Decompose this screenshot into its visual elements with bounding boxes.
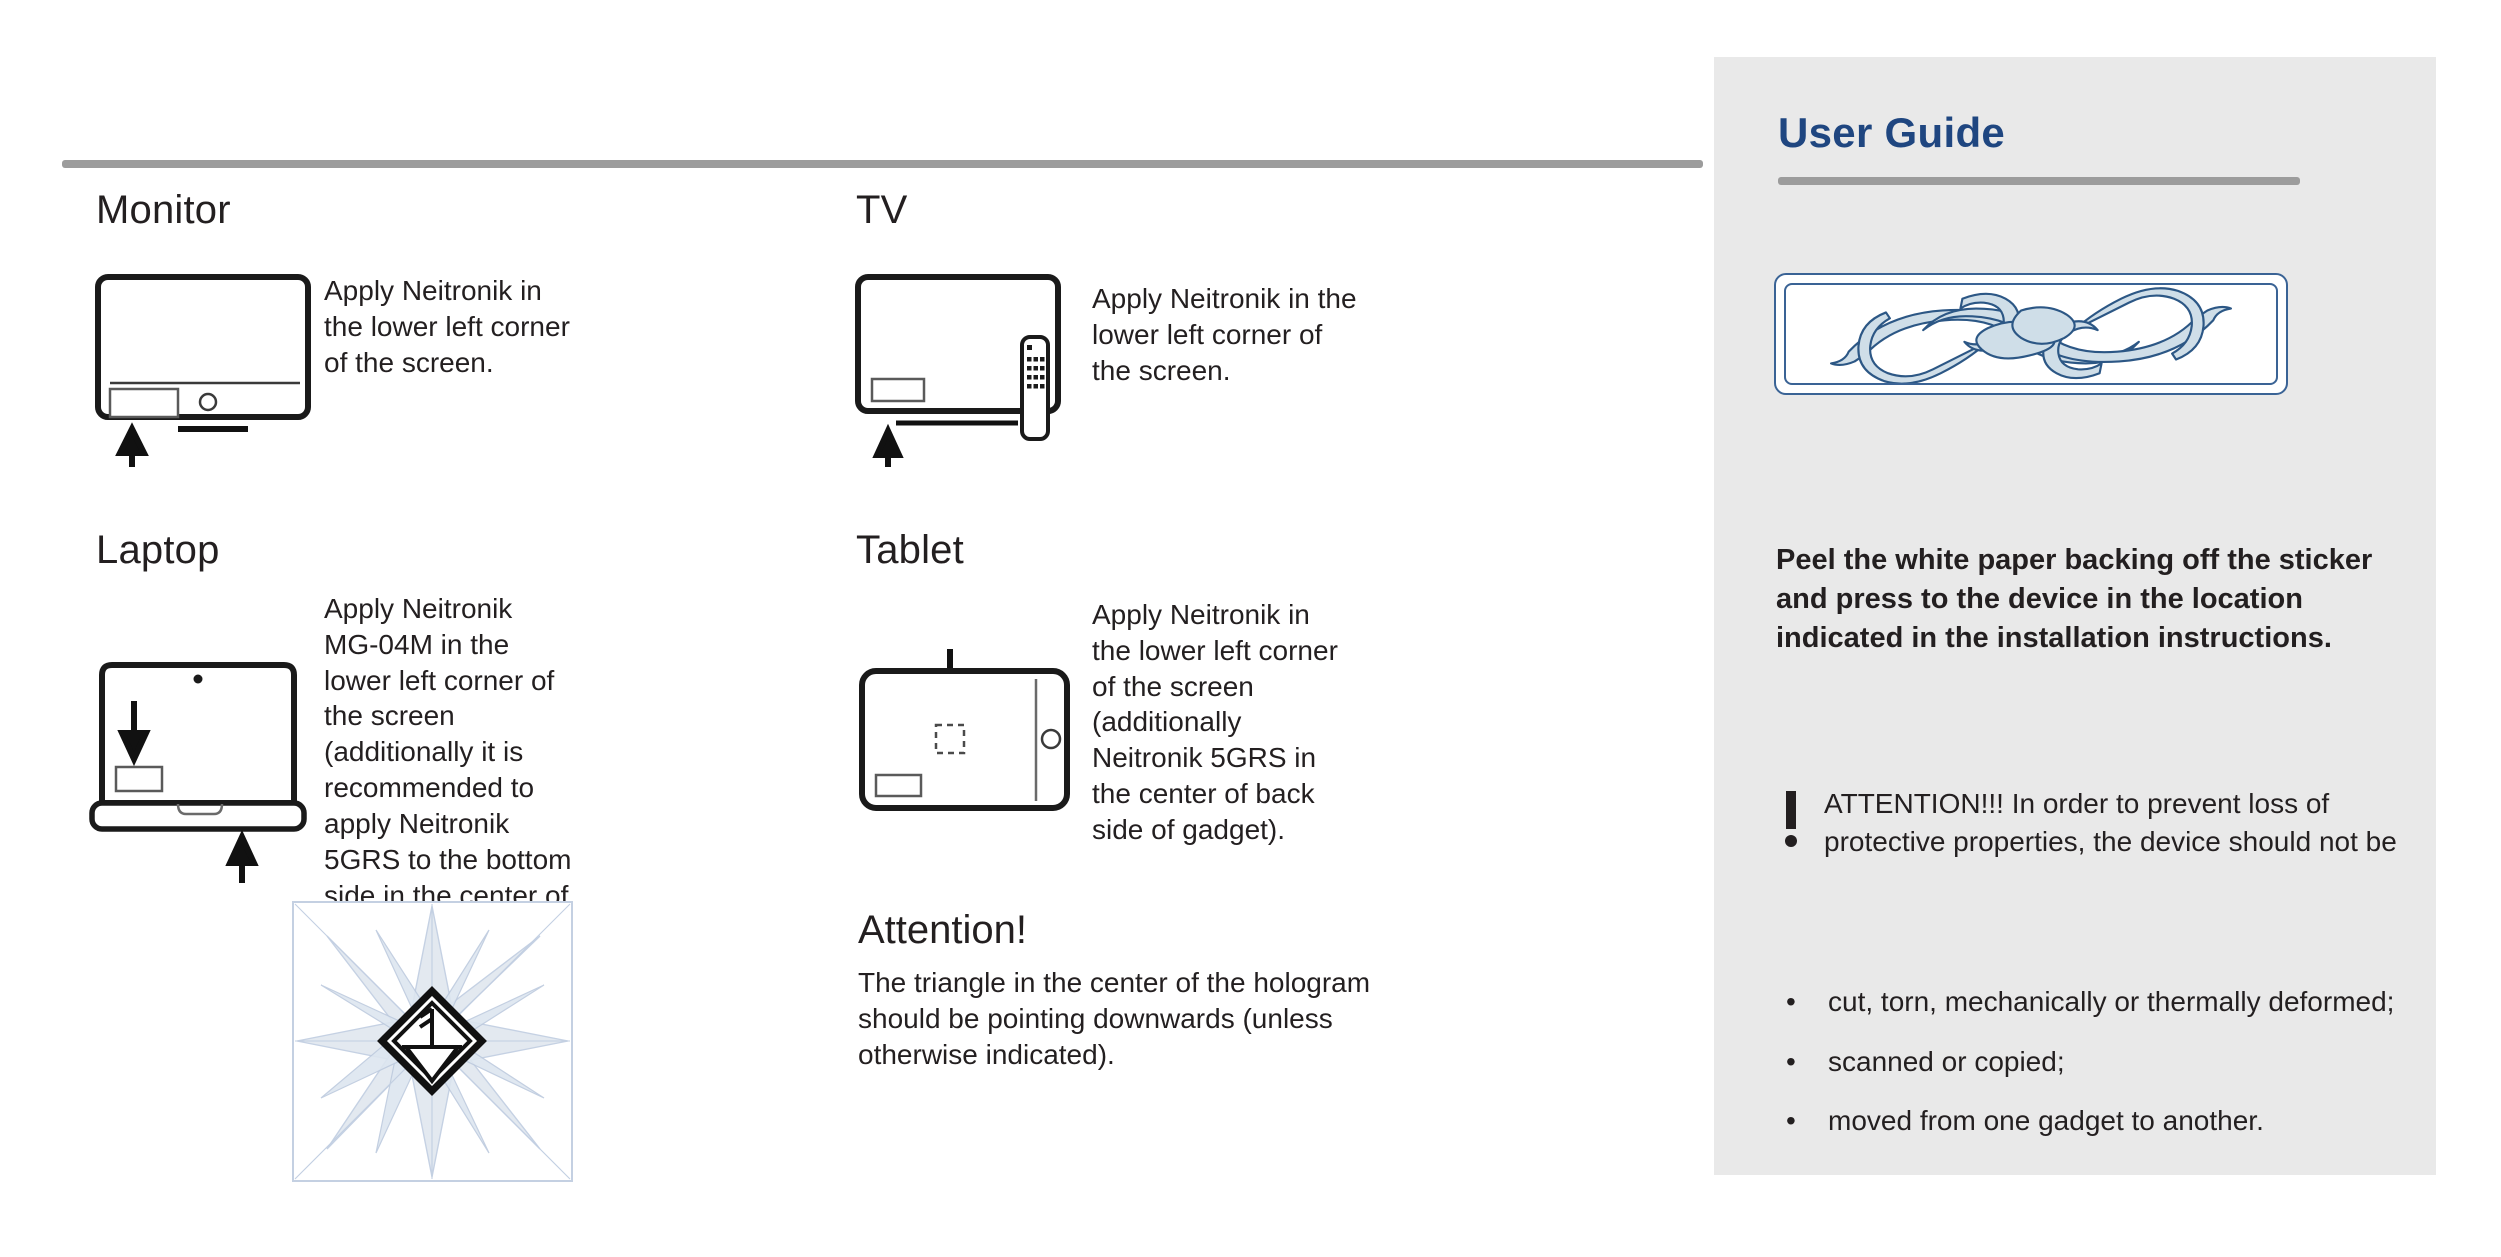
device-caption-tv: Apply Neitronik in the lower left corner… xyxy=(1092,281,1362,388)
attention-heading: Attention! xyxy=(858,908,1418,953)
bullet-icon: • xyxy=(1772,1102,1828,1140)
panel-attention-row: ATTENTION!!! In order to prevent loss of… xyxy=(1772,785,2412,885)
bullet-icon: • xyxy=(1772,1043,1828,1081)
list-item: • moved from one gadget to another. xyxy=(1772,1102,2432,1140)
sticker-inner-border xyxy=(1784,283,2278,385)
panel-restrictions-list: • cut, torn, mechanically or thermally d… xyxy=(1772,983,2432,1162)
bullet-icon: • xyxy=(1772,983,1828,1021)
monitor-illustration xyxy=(90,271,350,471)
laptop-illustration xyxy=(86,651,346,891)
device-section-tablet: Tablet Apply Neitronik in the lower left… xyxy=(856,528,1616,833)
list-item-label: moved from one gadget to another. xyxy=(1828,1102,2432,1140)
panel-title-rule xyxy=(1778,177,2300,185)
list-item: • cut, torn, mechanically or thermally d… xyxy=(1772,983,2432,1021)
user-guide-panel: User Guide Peel the white paper backing … xyxy=(1714,57,2436,1175)
device-section-laptop: Laptop xyxy=(96,528,776,903)
tv-illustration xyxy=(850,271,1110,471)
panel-attention-text: ATTENTION!!! In order to prevent loss of… xyxy=(1824,785,2412,860)
attention-body-text: The triangle in the center of the hologr… xyxy=(858,965,1418,1072)
hologram-illustration xyxy=(291,900,574,1183)
device-section-tv: TV xyxy=(856,188,1616,423)
panel-instruction-text: Peel the white paper backing off the sti… xyxy=(1776,541,2396,658)
device-title-monitor: Monitor xyxy=(96,188,776,233)
device-caption-monitor: Apply Neitronik in the lower left corner… xyxy=(324,273,574,380)
list-item: • scanned or copied; xyxy=(1772,1043,2432,1081)
device-title-tv: TV xyxy=(856,188,1616,233)
list-item-label: cut, torn, mechanically or thermally def… xyxy=(1828,983,2432,1021)
exclamation-icon xyxy=(1772,785,1824,885)
device-title-tablet: Tablet xyxy=(856,528,1616,573)
main-content-area: Monitor Apply Neitronik in the lower lef… xyxy=(0,0,1714,1257)
section-divider-rule xyxy=(62,160,1703,168)
device-title-laptop: Laptop xyxy=(96,528,776,573)
tablet-illustration xyxy=(852,643,1112,843)
sticker-preview-frame xyxy=(1774,273,2288,395)
device-caption-laptop: Apply Neitronik MG-04M in the lower left… xyxy=(324,591,574,949)
device-caption-tablet: Apply Neitronik in the lower left corner… xyxy=(1092,597,1342,848)
celtic-knot-icon xyxy=(1786,285,2276,383)
attention-section: Attention! The triangle in the center of… xyxy=(858,908,1418,1072)
panel-title: User Guide xyxy=(1778,109,2005,157)
list-item-label: scanned or copied; xyxy=(1828,1043,2432,1081)
device-section-monitor: Monitor Apply Neitronik in the lower lef… xyxy=(96,188,776,423)
